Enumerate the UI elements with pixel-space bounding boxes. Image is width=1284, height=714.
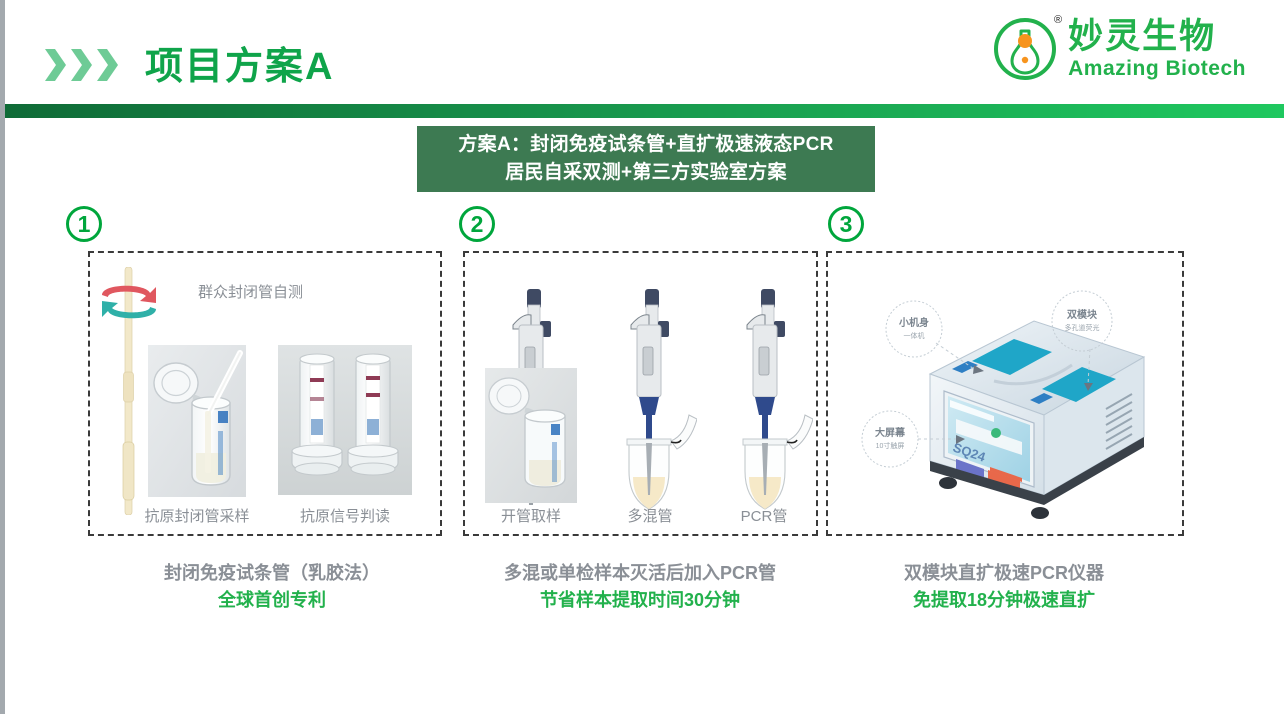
step-number-1: 1 <box>66 206 102 242</box>
company-logo: ® 妙灵生物 Amazing Biotech <box>992 16 1246 82</box>
slide-canvas: 项目方案A ® 妙灵生物 Amazing Biotech 方案A：封闭免疫试条管… <box>0 0 1284 714</box>
callout-label-1: 双模块 <box>1067 308 1098 321</box>
panel-1-title: 群众封闭管自测 <box>198 281 303 302</box>
banner-line-1: 方案A：封闭免疫试条管+直扩极速液态PCR <box>458 131 833 159</box>
page-title: 项目方案A <box>145 35 334 90</box>
caption-1-top: 封闭免疫试条管（乳胶法） <box>62 560 482 587</box>
panel-2-item-label-2: PCR管 <box>709 505 819 526</box>
callout-sub-0: 一体机 <box>904 331 925 340</box>
panel-1-item-label-1: 抗原信号判读 <box>274 505 416 526</box>
logo-name-en: Amazing Biotech <box>1068 58 1246 79</box>
caption-2-top: 多混或单检样本灭活后加入PCR管 <box>455 560 825 587</box>
chevron-right-icon <box>69 46 93 84</box>
panels-row: 1 群众封闭管自测 <box>0 206 1284 546</box>
caption-1-bottom: 全球首创专利 <box>62 587 482 614</box>
callout-label-0: 小机身 <box>898 316 929 329</box>
test-strip-tubes-photo <box>278 345 412 495</box>
sample-tube-photo <box>148 345 246 497</box>
chevron-right-icon <box>43 46 67 84</box>
open-tube-photo <box>485 368 577 503</box>
step-number-2: 2 <box>459 206 495 242</box>
scheme-banner: 方案A：封闭免疫试条管+直扩极速液态PCR 居民自采双测+第三方实验室方案 <box>417 126 875 192</box>
panel-2-item-label-1: 多混管 <box>595 505 705 526</box>
slide-header: 项目方案A ® 妙灵生物 Amazing Biotech <box>5 0 1284 104</box>
callout-label-2: 大屏幕 <box>875 426 906 439</box>
caption-3-top: 双模块直扩极速PCR仪器 <box>824 560 1184 587</box>
banner-line-2: 居民自采双测+第三方实验室方案 <box>505 159 787 187</box>
panel-2-item-label-0: 开管取样 <box>479 505 583 526</box>
caption-1: 封闭免疫试条管（乳胶法） 全球首创专利 <box>62 560 482 614</box>
pcr-instrument-icon: SQ24 小机身 一体机 双模块 <box>844 269 1170 519</box>
caption-2: 多混或单检样本灭活后加入PCR管 节省样本提取时间30分钟 <box>455 560 825 614</box>
pipette-icon <box>605 281 697 511</box>
callout-sub-2: 10寸触屏 <box>876 441 905 450</box>
caption-3-bottom: 免提取18分钟极速直扩 <box>824 587 1184 614</box>
caption-3: 双模块直扩极速PCR仪器 免提取18分钟极速直扩 <box>824 560 1184 614</box>
chevron-right-icon <box>95 46 119 84</box>
registered-mark: ® <box>1054 14 1062 26</box>
flask-circle-icon: ® <box>992 16 1058 82</box>
panel-2-dashed-box: 开管取样 <box>463 251 818 536</box>
header-divider-bar <box>5 104 1284 118</box>
callout-sub-1: 多孔道荧光 <box>1065 323 1100 332</box>
caption-2-bottom: 节省样本提取时间30分钟 <box>455 587 825 614</box>
pipette-icon <box>721 281 813 511</box>
panel-3-dashed-box: SQ24 小机身 一体机 双模块 <box>826 251 1184 536</box>
panel-1-dashed-box: 群众封闭管自测 <box>88 251 442 536</box>
step-number-3: 3 <box>828 206 864 242</box>
logo-name-cn: 妙灵生物 <box>1068 19 1246 54</box>
chevron-arrows-group <box>43 46 119 84</box>
panel-1-item-label-0: 抗原封闭管采样 <box>130 505 264 526</box>
rotation-arrows-icon <box>94 273 166 331</box>
